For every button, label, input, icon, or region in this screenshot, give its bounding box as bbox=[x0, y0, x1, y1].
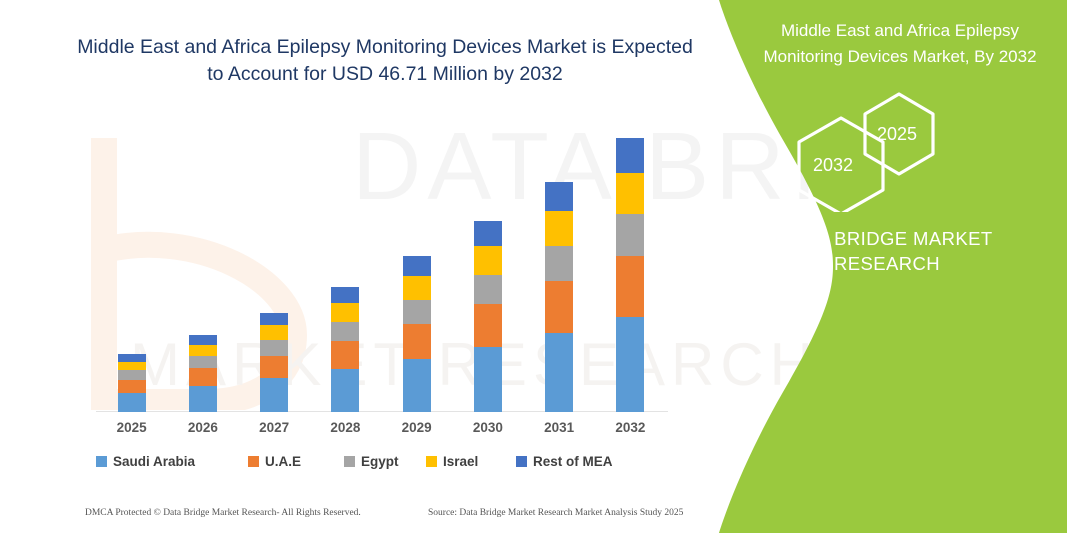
bar-segment bbox=[331, 369, 359, 412]
panel-title: Middle East and Africa Epilepsy Monitori… bbox=[745, 18, 1055, 70]
bar-column-2031 bbox=[545, 182, 573, 412]
bar-segment bbox=[474, 347, 502, 412]
bar-segment bbox=[118, 370, 146, 379]
hexagon-2032-label: 2032 bbox=[813, 155, 853, 176]
x-axis-label-2026: 2026 bbox=[173, 420, 233, 435]
bar-segment bbox=[403, 324, 431, 359]
x-axis-label-2032: 2032 bbox=[600, 420, 660, 435]
chart-title: Middle East and Africa Epilepsy Monitori… bbox=[70, 34, 700, 88]
bar-segment bbox=[260, 378, 288, 412]
bar-segment bbox=[545, 182, 573, 212]
bar-segment bbox=[189, 345, 217, 357]
legend-item-saudi-arabia[interactable]: Saudi Arabia bbox=[96, 454, 195, 469]
bar-segment bbox=[118, 380, 146, 393]
bar-segment bbox=[189, 386, 217, 412]
legend-label: Egypt bbox=[361, 454, 399, 469]
legend-label: Rest of MEA bbox=[533, 454, 613, 469]
x-axis-label-2025: 2025 bbox=[102, 420, 162, 435]
bar-segment bbox=[260, 325, 288, 340]
x-axis-labels: 20252026202720282029203020312032 bbox=[96, 420, 666, 442]
bar-segment bbox=[474, 275, 502, 305]
bar-segment bbox=[474, 246, 502, 275]
legend-item-u-a-e[interactable]: U.A.E bbox=[248, 454, 301, 469]
bar-segment bbox=[331, 303, 359, 322]
bar-segment bbox=[118, 354, 146, 361]
bar-segment bbox=[403, 300, 431, 324]
brand-name-line1: DATA BRIDGE MARKET bbox=[732, 228, 1042, 250]
x-axis-label-2030: 2030 bbox=[458, 420, 518, 435]
legend-swatch-icon bbox=[516, 456, 527, 467]
footer-copyright: DMCA Protected © Data Bridge Market Rese… bbox=[85, 508, 361, 518]
chart-legend: Saudi ArabiaU.A.EEgyptIsraelRest of MEA bbox=[96, 454, 672, 476]
bar-segment bbox=[260, 313, 288, 326]
brand-panel: Middle East and Africa Epilepsy Monitori… bbox=[697, 0, 1067, 533]
hexagon-2025-label: 2025 bbox=[877, 124, 917, 145]
bar-column-2030 bbox=[474, 221, 502, 412]
legend-item-rest-of-mea[interactable]: Rest of MEA bbox=[516, 454, 613, 469]
legend-swatch-icon bbox=[96, 456, 107, 467]
bar-column-2026 bbox=[189, 335, 217, 412]
bar-segment bbox=[545, 211, 573, 246]
x-axis-label-2027: 2027 bbox=[244, 420, 304, 435]
bar-segment bbox=[474, 304, 502, 347]
legend-label: U.A.E bbox=[265, 454, 301, 469]
x-axis-label-2029: 2029 bbox=[387, 420, 447, 435]
infographic-canvas: DATA BRIDGE MARKET RESEARCH Middle East … bbox=[0, 0, 1067, 533]
brand-name-line2: RESEARCH bbox=[732, 253, 1042, 275]
bar-segment bbox=[545, 333, 573, 412]
x-axis-label-2028: 2028 bbox=[315, 420, 375, 435]
bar-segment bbox=[616, 214, 644, 256]
bar-segment bbox=[403, 256, 431, 276]
footer-source: Source: Data Bridge Market Research Mark… bbox=[428, 508, 683, 518]
bar-segment bbox=[118, 362, 146, 371]
legend-swatch-icon bbox=[248, 456, 259, 467]
bar-segment bbox=[189, 335, 217, 345]
bar-segment bbox=[403, 276, 431, 300]
bar-segment bbox=[260, 340, 288, 355]
legend-label: Saudi Arabia bbox=[113, 454, 195, 469]
legend-item-israel[interactable]: Israel bbox=[426, 454, 478, 469]
legend-item-egypt[interactable]: Egypt bbox=[344, 454, 399, 469]
bar-segment bbox=[189, 356, 217, 368]
bar-column-2029 bbox=[403, 256, 431, 412]
bar-column-2027 bbox=[260, 313, 288, 412]
legend-swatch-icon bbox=[344, 456, 355, 467]
legend-label: Israel bbox=[443, 454, 478, 469]
bar-segment bbox=[189, 368, 217, 385]
bar-segment bbox=[616, 138, 644, 173]
bar-segment bbox=[118, 393, 146, 412]
bar-segment bbox=[545, 246, 573, 281]
hexagons-svg bbox=[777, 92, 1047, 212]
bar-segment bbox=[616, 256, 644, 317]
bar-segment bbox=[616, 317, 644, 412]
bar-segment bbox=[260, 356, 288, 378]
bar-segment bbox=[331, 287, 359, 303]
bar-segment bbox=[616, 173, 644, 214]
bar-column-2032 bbox=[616, 138, 644, 412]
bar-segment bbox=[474, 221, 502, 245]
legend-swatch-icon bbox=[426, 456, 437, 467]
bar-chart-plot-area bbox=[96, 120, 666, 412]
hexagon-group: 2025 2032 bbox=[777, 92, 1047, 212]
bar-segment bbox=[331, 322, 359, 341]
bar-segment bbox=[403, 359, 431, 412]
bar-segment bbox=[545, 281, 573, 332]
bar-segment bbox=[331, 341, 359, 369]
bar-column-2028 bbox=[331, 287, 359, 412]
x-axis-label-2031: 2031 bbox=[529, 420, 589, 435]
bar-column-2025 bbox=[118, 354, 146, 412]
